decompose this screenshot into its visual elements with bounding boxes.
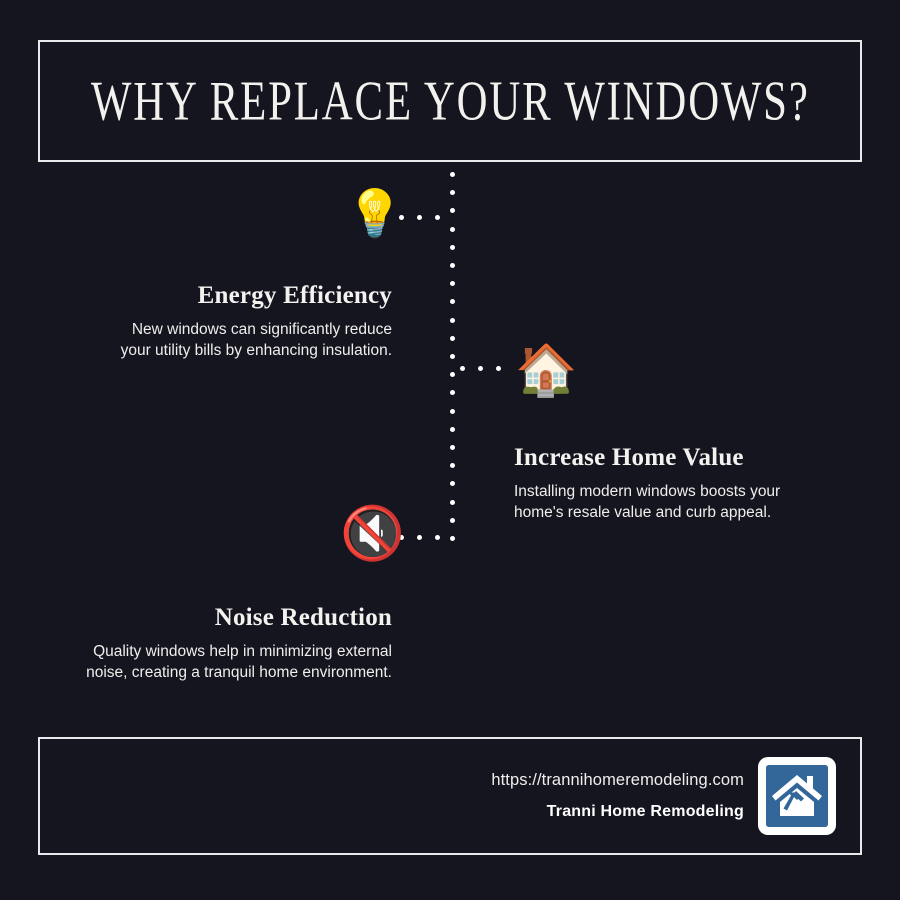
connector-dot [435,535,440,540]
website-url[interactable]: https://trannihomeremodeling.com [491,771,744,791]
spine-dot [450,518,455,523]
spine-dot [450,281,455,286]
spine-dot [450,354,455,359]
title-banner: WHY REPLACE YOUR WINDOWS? [38,40,862,162]
benefit-heading-energy-efficiency: Energy Efficiency [52,282,392,310]
benefit-block-energy-efficiency: Energy Efficiency New windows can signif… [52,282,392,361]
benefit-block-increase-home-value: Increase Home Value Installing modern wi… [514,444,862,523]
brand-name: Tranni Home Remodeling [491,802,744,821]
spine-dot [450,390,455,395]
connector-dot [417,215,422,220]
connector-dot [435,215,440,220]
spine-dot [450,299,455,304]
connector-dots-energy-efficiency [399,215,451,221]
connector-dot [460,366,465,371]
house-hammer-logo-icon [766,765,828,827]
benefit-heading-increase-home-value: Increase Home Value [514,444,862,472]
spine-dot [450,336,455,341]
light-bulb-icon: 💡 [346,190,403,236]
spine-dot [450,172,455,177]
footer-content: https://trannihomeremodeling.com Tranni … [491,757,836,835]
infographic-canvas: WHY REPLACE YOUR WINDOWS? 💡 🏠 🔇 Energy E… [0,0,900,900]
spine-dot [450,463,455,468]
house-hammer-logo [758,757,836,835]
spine-dot [450,481,455,486]
spine-dot [450,445,455,450]
spine-dot [450,208,455,213]
spine-dot [450,409,455,414]
house-icon: 🏠 [515,345,577,395]
footer-text-group: https://trannihomeremodeling.com Tranni … [491,771,744,821]
spine-dot [450,190,455,195]
connector-dot [417,535,422,540]
benefit-heading-noise-reduction: Noise Reduction [52,604,392,632]
connector-dot [478,366,483,371]
muted-speaker-icon: 🔇 [340,508,405,560]
spine-dot [450,427,455,432]
benefit-body-noise-reduction: Quality windows help in minimizing exter… [52,641,392,683]
benefit-body-energy-efficiency: New windows can significantly reduce you… [52,319,392,361]
spine-dot [450,318,455,323]
benefit-block-noise-reduction: Noise Reduction Quality windows help in … [52,604,392,683]
spine-dot [450,372,455,377]
spine-dot [450,245,455,250]
connector-dots-increase-home-value [460,366,512,372]
spine-dot [450,227,455,232]
connector-dots-noise-reduction [399,535,451,541]
benefit-body-increase-home-value: Installing modern windows boosts your ho… [514,481,862,523]
footer-banner: https://trannihomeremodeling.com Tranni … [38,737,862,855]
page-title: WHY REPLACE YOUR WINDOWS? [91,73,810,129]
spine-dot [450,263,455,268]
connector-dot [496,366,501,371]
spine-dot [450,500,455,505]
dotted-spine [450,172,456,544]
